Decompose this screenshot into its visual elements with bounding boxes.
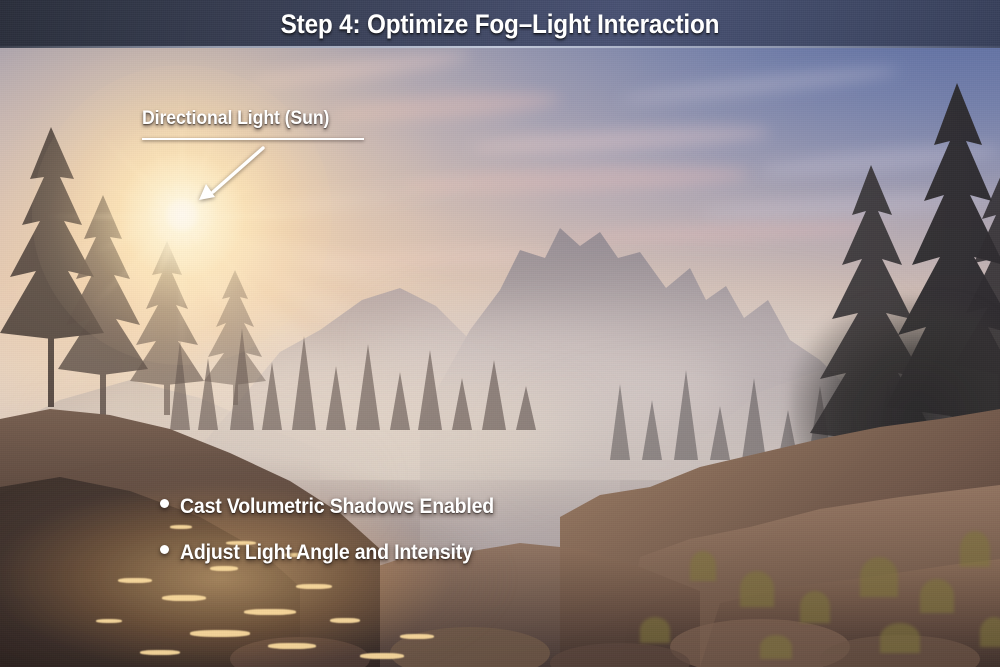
sun-ray xyxy=(181,217,184,357)
bullet-marker-icon xyxy=(160,499,169,508)
water-sparkle xyxy=(360,653,404,659)
list-item: Adjust Light Angle and Intensity xyxy=(160,541,518,565)
slide-title-bar: Step 4: Optimize Fog–Light Interaction xyxy=(0,0,1000,48)
grass-tuft xyxy=(690,551,716,581)
bullet-text: Cast Volumetric Shadows Enabled xyxy=(180,495,494,519)
slide-canvas: Step 4: Optimize Fog–Light Interaction D… xyxy=(0,0,1000,667)
water-sparkle xyxy=(244,609,296,615)
page-title: Step 4: Optimize Fog–Light Interaction xyxy=(50,0,950,48)
grass-tuft xyxy=(740,571,774,607)
bullet-text: Adjust Light Angle and Intensity xyxy=(180,541,473,565)
bullet-marker-icon xyxy=(160,545,169,554)
callout-directional-light: Directional Light (Sun) xyxy=(142,108,364,140)
water-sparkle xyxy=(268,643,316,649)
grass-tuft xyxy=(860,557,898,597)
water-sparkle xyxy=(162,595,206,601)
grass-tuft xyxy=(920,579,954,613)
list-item: Cast Volumetric Shadows Enabled xyxy=(160,495,518,519)
arrow-down-left-icon xyxy=(185,140,280,210)
water-sparkle xyxy=(118,578,152,583)
bullet-list: Cast Volumetric Shadows Enabled Adjust L… xyxy=(160,495,518,587)
sun-ray xyxy=(182,215,332,218)
water-sparkle xyxy=(190,630,250,637)
grass-tuft xyxy=(760,635,792,659)
grass-tuft xyxy=(800,591,830,623)
callout-label: Directional Light (Sun) xyxy=(142,108,348,130)
water-sparkle xyxy=(96,619,122,623)
grass-tuft xyxy=(980,617,1000,647)
grass-tuft xyxy=(640,617,670,643)
water-sparkle xyxy=(330,618,360,623)
water-sparkle xyxy=(140,650,180,655)
grass-tuft xyxy=(960,531,990,567)
grass-tuft xyxy=(880,623,920,653)
water-sparkle xyxy=(400,634,434,639)
